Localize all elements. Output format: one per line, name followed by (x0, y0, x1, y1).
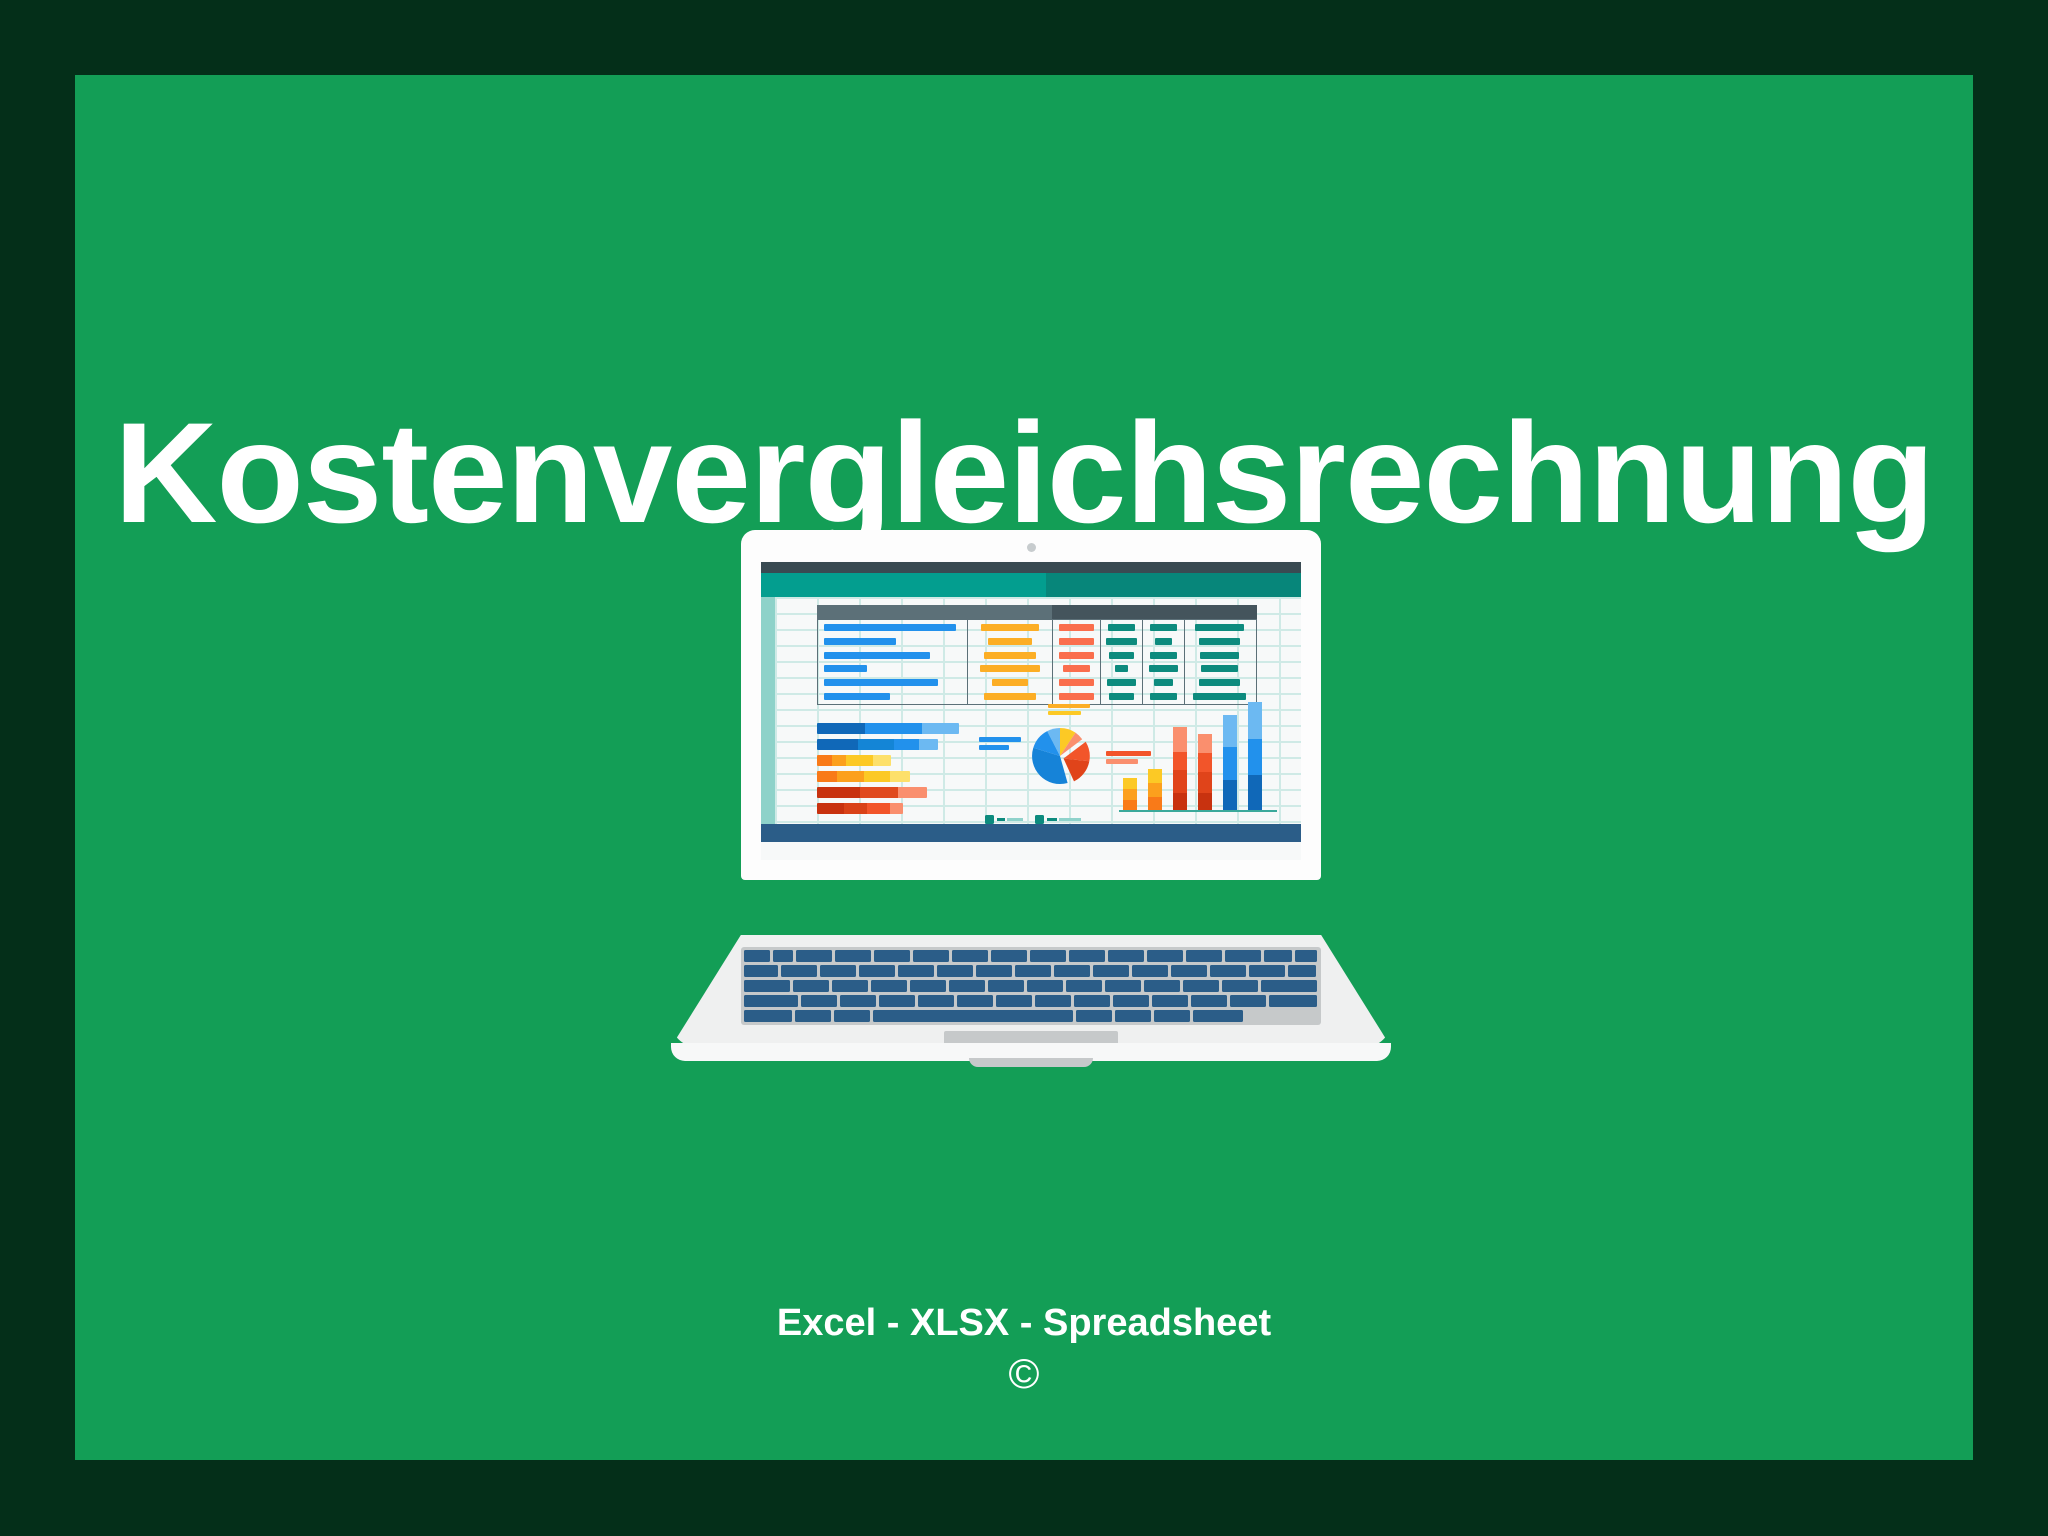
table-row (968, 679, 1052, 686)
table-row (1053, 679, 1100, 686)
poster-canvas: Kostenvergleichsrechnung (0, 0, 2048, 1536)
column-chart-axis (1119, 810, 1277, 813)
table-row (968, 693, 1052, 700)
keyboard-row (744, 965, 1318, 977)
pie-legend-left (979, 737, 1021, 753)
table-row (818, 693, 967, 700)
pie-chart-caption (1048, 704, 1090, 718)
marker-square-icon (985, 815, 994, 824)
table-row (1143, 679, 1184, 686)
keyboard-row (744, 995, 1318, 1007)
laptop-keyboard (741, 947, 1321, 1025)
table-row (1143, 624, 1184, 631)
table-row (1143, 652, 1184, 659)
table-row (968, 624, 1052, 631)
table-row (818, 665, 967, 672)
horizontal-bar-chart (817, 723, 997, 819)
teal-marker-left (985, 815, 1023, 824)
horizontal-bar (817, 723, 959, 734)
laptop-base (671, 935, 1391, 1047)
copyright-symbol: © (75, 1346, 1973, 1402)
table-row (1101, 652, 1142, 659)
table-row (1143, 638, 1184, 645)
table-row (1101, 693, 1142, 700)
table-row (1185, 693, 1254, 700)
page-title: Kostenvergleichsrechnung (75, 399, 1973, 549)
table-column-d (1101, 620, 1143, 704)
column-bar (1123, 778, 1137, 810)
table-column-e (1143, 620, 1185, 704)
column-bar (1248, 702, 1262, 810)
spreadsheet-titlebar (761, 562, 1301, 573)
table-row (1101, 679, 1142, 686)
table-row (968, 665, 1052, 672)
table-row (1143, 693, 1184, 700)
table-row (1101, 665, 1142, 672)
horizontal-bar (817, 755, 891, 766)
table-row (818, 679, 967, 686)
table-row (1101, 638, 1142, 645)
horizontal-bar (817, 787, 927, 798)
keyboard-row (744, 1010, 1318, 1022)
table-row (818, 652, 967, 659)
spreadsheet-statusbar (761, 824, 1301, 842)
table-row (1053, 624, 1100, 631)
column-chart (1123, 702, 1273, 810)
table-column-a (818, 620, 968, 704)
footer: Excel - XLSX - Spreadsheet © (75, 1300, 1973, 1402)
laptop-base-notch (969, 1058, 1093, 1067)
spreadsheet-toolbar (761, 573, 1301, 597)
laptop-illustration (671, 530, 1391, 1075)
spreadsheet-toolbar-right (1046, 573, 1301, 597)
table-row (1185, 624, 1254, 631)
keyboard-row (744, 980, 1318, 992)
table-row (1143, 665, 1184, 672)
table-row (1185, 638, 1254, 645)
column-bar (1198, 734, 1212, 810)
column-bar (1173, 727, 1187, 810)
table-column-f (1185, 620, 1254, 704)
table-row (1101, 624, 1142, 631)
horizontal-bar (817, 771, 910, 782)
keyboard-row (744, 950, 1318, 962)
horizontal-bar (817, 739, 938, 750)
spreadsheet-grid (761, 597, 1301, 842)
data-table-header-right (1052, 605, 1257, 619)
teal-marker-right (1035, 815, 1081, 824)
column-bar (1148, 769, 1162, 810)
table-row (1053, 665, 1100, 672)
footer-format-label: Excel - XLSX - Spreadsheet (75, 1300, 1973, 1346)
table-column-b (968, 620, 1053, 704)
spreadsheet-screen (761, 562, 1301, 860)
column-bar (1223, 715, 1237, 810)
table-row (1053, 693, 1100, 700)
table-row (968, 638, 1052, 645)
webcam-icon (1027, 543, 1036, 552)
table-row (818, 624, 967, 631)
poster-panel: Kostenvergleichsrechnung (75, 75, 1973, 1460)
table-row (968, 652, 1052, 659)
table-column-c (1053, 620, 1101, 704)
table-row (1053, 652, 1100, 659)
table-row (1185, 665, 1254, 672)
table-row (1185, 652, 1254, 659)
data-table-body (817, 619, 1257, 705)
data-table (817, 605, 1257, 705)
marker-square-icon (1035, 815, 1044, 824)
table-row (818, 638, 967, 645)
data-table-header (817, 605, 1257, 619)
horizontal-bar (817, 803, 903, 814)
pie-chart (1029, 725, 1091, 787)
table-row (1185, 679, 1254, 686)
table-row (1053, 638, 1100, 645)
laptop-lid (741, 530, 1321, 880)
row-header-column (761, 597, 775, 842)
